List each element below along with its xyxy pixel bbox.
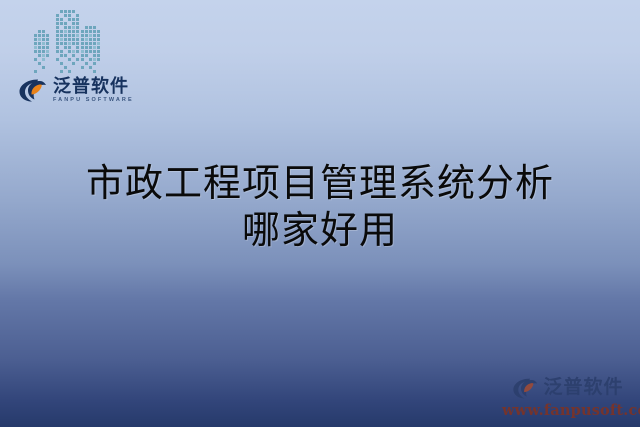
brand-name-cn: 泛普软件 <box>53 77 134 95</box>
skyline-center-building <box>56 10 80 74</box>
watermark-logo: 泛普软件 <box>502 375 634 401</box>
brand-logo: 泛普软件 FANPU SOFTWARE <box>18 76 134 104</box>
watermark: 泛普软件 www.fanpusoft.com <box>502 375 634 419</box>
fanpu-swoosh-logo-icon <box>18 78 48 103</box>
page-title-line-2: 哪家好用 <box>0 207 640 254</box>
brand-name-en: FANPU SOFTWARE <box>53 96 134 104</box>
fanpu-swoosh-logo-icon <box>512 377 539 400</box>
skyline-left-building <box>34 30 50 74</box>
pixel-city-skyline-icon <box>34 16 98 74</box>
watermark-name-cn: 泛普软件 <box>543 378 623 398</box>
brand-text: 泛普软件 FANPU SOFTWARE <box>53 77 134 104</box>
skyline-right-building <box>81 26 101 74</box>
watermark-url: www.fanpusoft.com <box>502 402 634 419</box>
page-title: 市政工程项目管理系统分析 哪家好用 <box>0 160 640 254</box>
page-title-line-1: 市政工程项目管理系统分析 <box>0 160 640 207</box>
poster-canvas: 泛普软件 FANPU SOFTWARE 市政工程项目管理系统分析 哪家好用 泛普… <box>0 0 640 427</box>
